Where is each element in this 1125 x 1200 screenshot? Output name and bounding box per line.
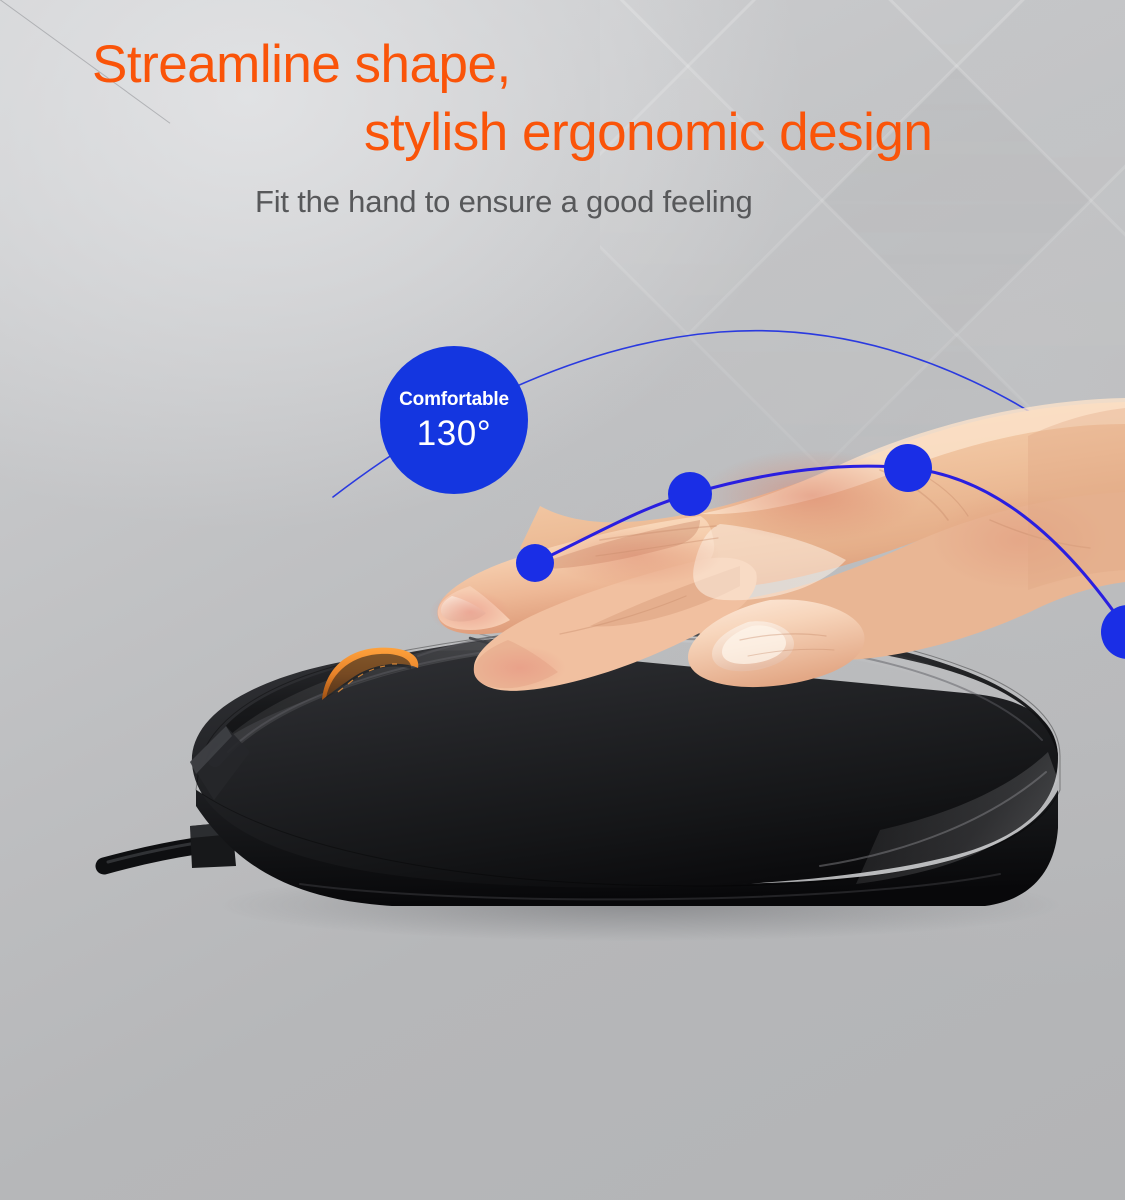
product-banner: Streamline shape, stylish ergonomic desi…	[0, 0, 1125, 1200]
badge-label: Comfortable	[399, 390, 509, 409]
badge-value: 130°	[417, 416, 491, 451]
fingertip-node	[516, 544, 554, 582]
arc-node-group	[516, 444, 1125, 659]
ergonomic-angle-arc	[0, 0, 1125, 1200]
knuckle-node	[884, 444, 932, 492]
wrist-node	[1101, 605, 1125, 659]
mid-finger-node	[668, 472, 712, 516]
comfort-angle-badge: Comfortable 130°	[380, 346, 528, 494]
